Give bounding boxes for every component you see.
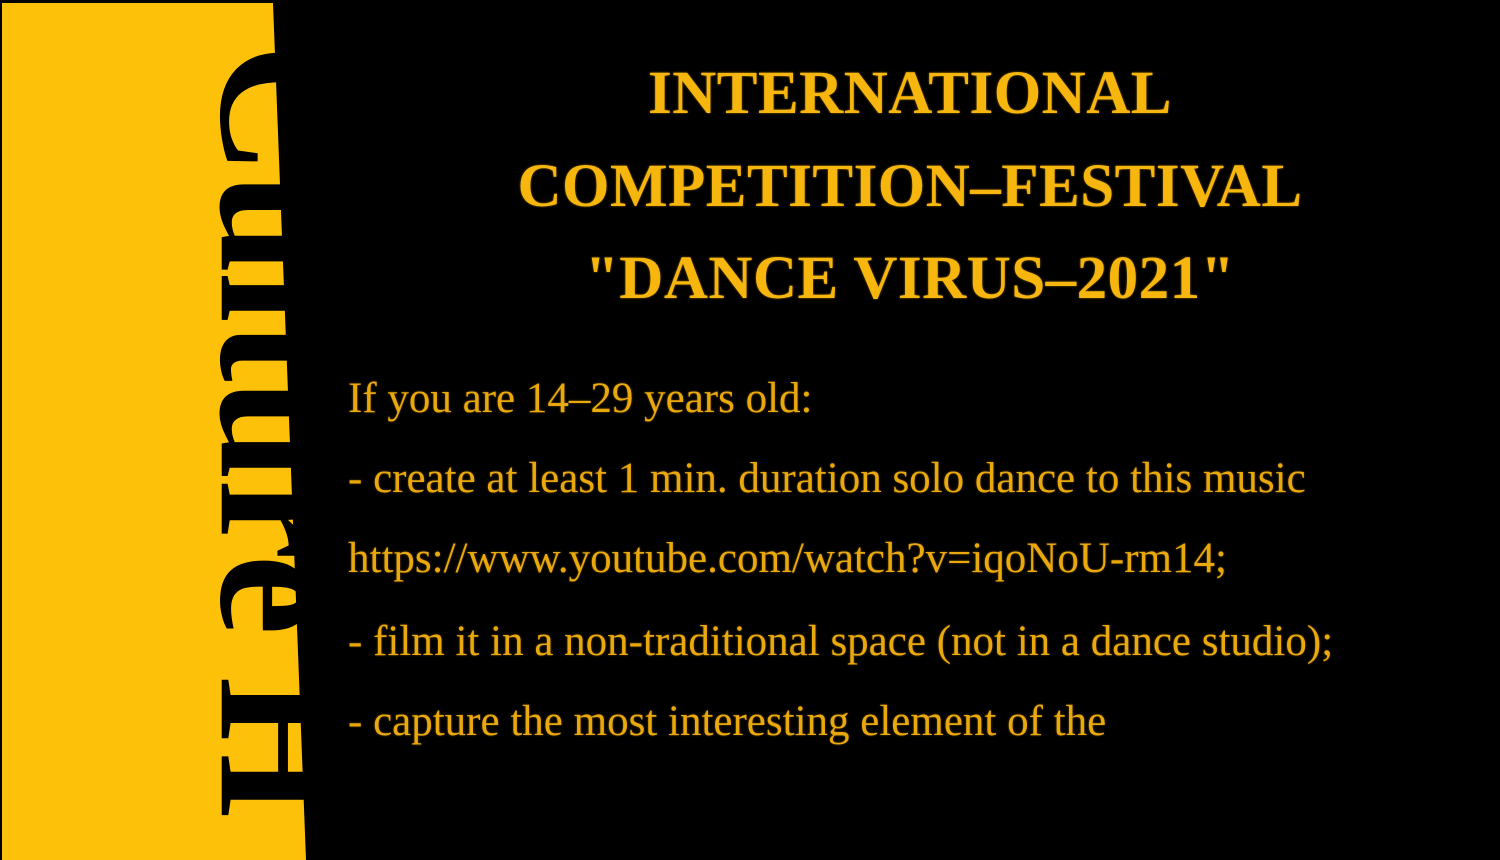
body-paragraph-eligibility: If you are 14–29 years old: bbox=[348, 372, 1473, 426]
body-paragraph-music-url[interactable]: https://www.youtube.com/watch?v=iqoNoU-r… bbox=[348, 532, 1473, 586]
body-paragraph-film-location: - film it in a non-traditional space (no… bbox=[348, 615, 1473, 669]
title-line-1: INTERNATIONAL bbox=[330, 48, 1490, 141]
title-line-2: COMPETITION–FESTIVAL bbox=[330, 141, 1490, 234]
poster-canvas: Culture H INTERNATIONAL COMPETITION–FEST… bbox=[0, 0, 1500, 860]
body-paragraph-create-dance: - create at least 1 min. duration solo d… bbox=[348, 452, 1473, 506]
poster-body: If you are 14–29 years old: - create at … bbox=[348, 372, 1473, 749]
title-line-3: "DANCE VIRUS–2021" bbox=[330, 233, 1490, 326]
sidebar-yellow-shape bbox=[0, 0, 320, 860]
body-paragraph-capture-element: - capture the most interesting element o… bbox=[348, 695, 1473, 749]
poster-title: INTERNATIONAL COMPETITION–FESTIVAL "DANC… bbox=[330, 48, 1490, 326]
content-column: INTERNATIONAL COMPETITION–FESTIVAL "DANC… bbox=[330, 0, 1500, 860]
sidebar-banner: Culture H bbox=[0, 0, 320, 860]
